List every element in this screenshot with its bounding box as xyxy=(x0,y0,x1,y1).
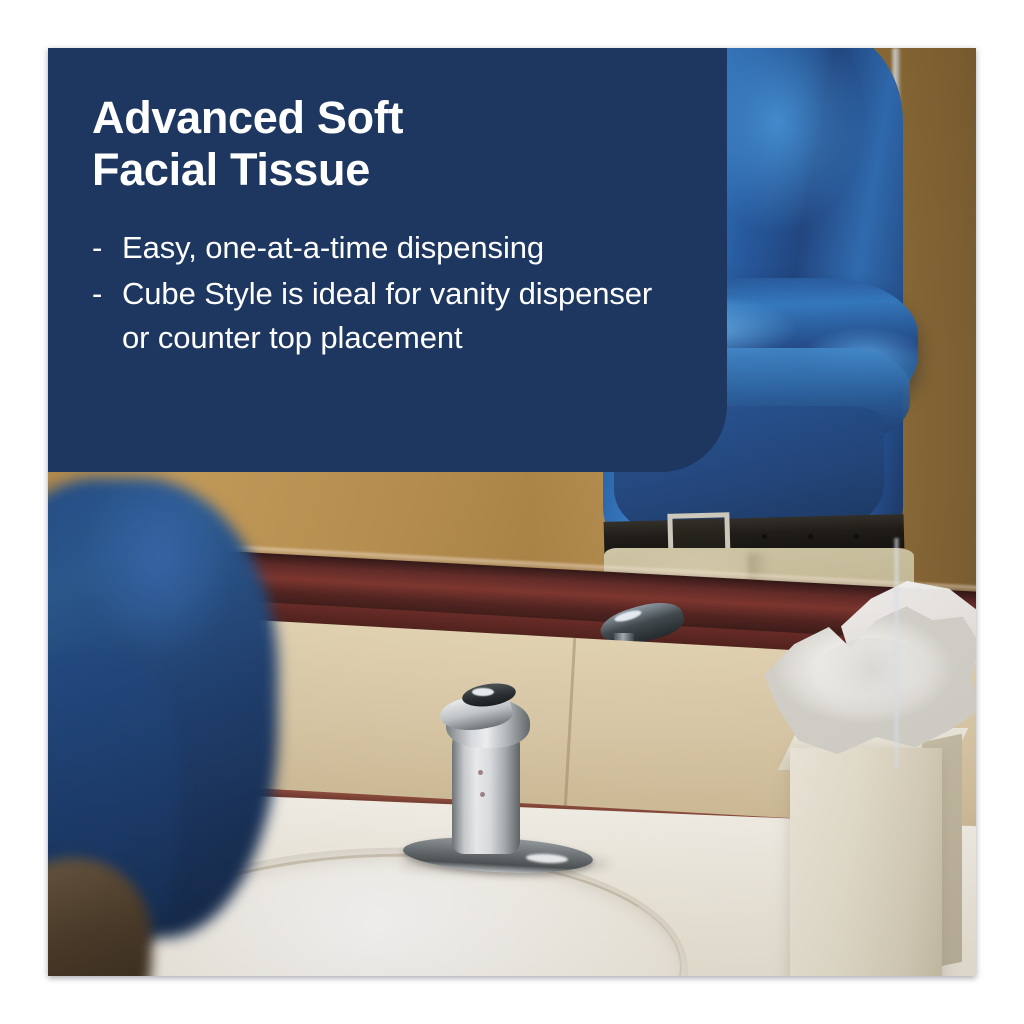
bullet-dash-icon: - xyxy=(92,272,102,316)
tile-grout-line xyxy=(563,638,577,828)
tissue-sheet-fold xyxy=(814,638,930,716)
belt-hole xyxy=(808,534,813,539)
list-item: - Cube Style is ideal for vanity dispens… xyxy=(92,272,683,360)
product-card: Advanced Soft Facial Tissue - Easy, one-… xyxy=(0,0,1024,1024)
tissue-box xyxy=(790,748,942,976)
page-title: Advanced Soft Facial Tissue xyxy=(92,92,683,196)
mirror-seam-lower xyxy=(893,538,900,768)
belt-hole xyxy=(762,534,767,539)
feature-bullet-list: - Easy, one-at-a-time dispensing - Cube … xyxy=(92,226,683,360)
faucet-indicator-dot xyxy=(480,792,485,797)
text-overlay-panel: Advanced Soft Facial Tissue - Easy, one-… xyxy=(48,48,727,472)
belt-hole xyxy=(854,534,859,539)
faucet-indicator-dot xyxy=(478,770,483,775)
list-item-label: Cube Style is ideal for vanity dispenser… xyxy=(122,276,652,355)
list-item-label: Easy, one-at-a-time dispensing xyxy=(122,230,544,265)
faucet-sensor-glint xyxy=(472,688,494,696)
list-item: - Easy, one-at-a-time dispensing xyxy=(92,226,683,270)
bullet-dash-icon: - xyxy=(92,226,102,270)
